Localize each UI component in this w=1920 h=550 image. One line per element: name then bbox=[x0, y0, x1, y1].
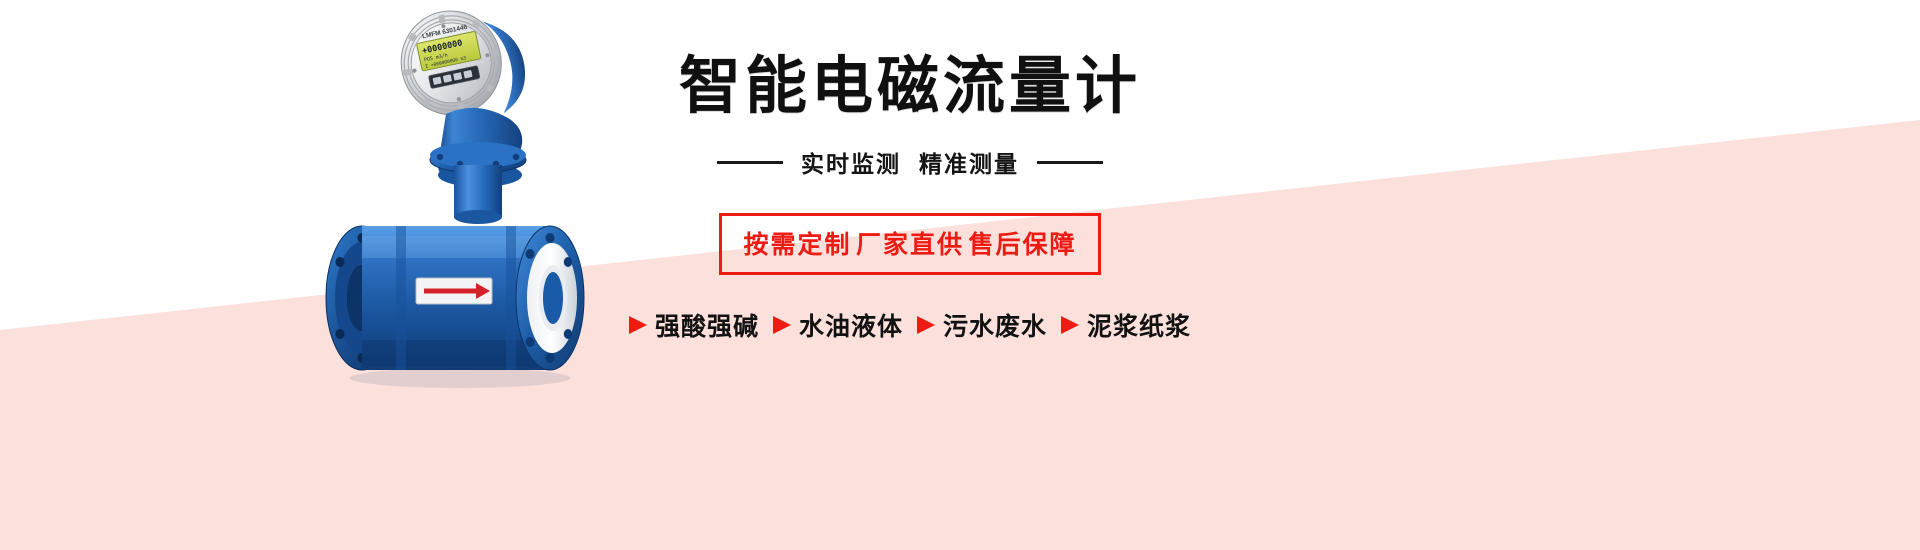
feature-item-2: 污水废水 bbox=[917, 307, 1047, 343]
page-title: 智能电磁流量计 bbox=[679, 54, 1141, 119]
rule-left bbox=[717, 161, 783, 164]
banner-stage: LMFM 6301446 +0000000 POS m3/h Σ +000000… bbox=[0, 0, 1920, 550]
arrow-right-icon bbox=[773, 316, 791, 334]
promo-box: 按需定制 厂家直供 售后保障 bbox=[719, 213, 1102, 275]
arrow-right-icon bbox=[1061, 316, 1079, 334]
subtitle-left: 实时监测 bbox=[801, 145, 901, 179]
banner-content: 智能电磁流量计 实时监测 精准测量 按需定制 厂家直供 售后保障 强酸强碱 水油… bbox=[600, 30, 1220, 390]
promo-item-0: 按需定制 bbox=[744, 231, 852, 259]
feature-label-1: 水油液体 bbox=[799, 307, 903, 343]
feature-label-3: 泥浆纸浆 bbox=[1087, 307, 1191, 343]
feature-label-2: 污水废水 bbox=[943, 307, 1047, 343]
subtitle-row: 实时监测 精准测量 bbox=[717, 145, 1103, 179]
flow-direction-plate bbox=[416, 278, 492, 304]
product-image-flow-meter: LMFM 6301446 +0000000 POS m3/h Σ +000000… bbox=[300, 0, 630, 420]
right-flange bbox=[516, 226, 584, 370]
promo-item-1: 厂家直供 bbox=[856, 231, 964, 259]
feature-label-0: 强酸强碱 bbox=[655, 307, 759, 343]
rule-right bbox=[1037, 161, 1103, 164]
promo-item-2: 售后保障 bbox=[968, 231, 1076, 259]
arrow-right-icon bbox=[629, 316, 647, 334]
feature-item-0: 强酸强碱 bbox=[629, 307, 759, 343]
subtitle-right: 精准测量 bbox=[919, 145, 1019, 179]
feature-item-1: 水油液体 bbox=[773, 307, 903, 343]
arrow-right-icon bbox=[917, 316, 935, 334]
feature-list: 强酸强碱 水油液体 污水废水 泥浆纸浆 bbox=[629, 307, 1191, 343]
feature-item-3: 泥浆纸浆 bbox=[1061, 307, 1191, 343]
